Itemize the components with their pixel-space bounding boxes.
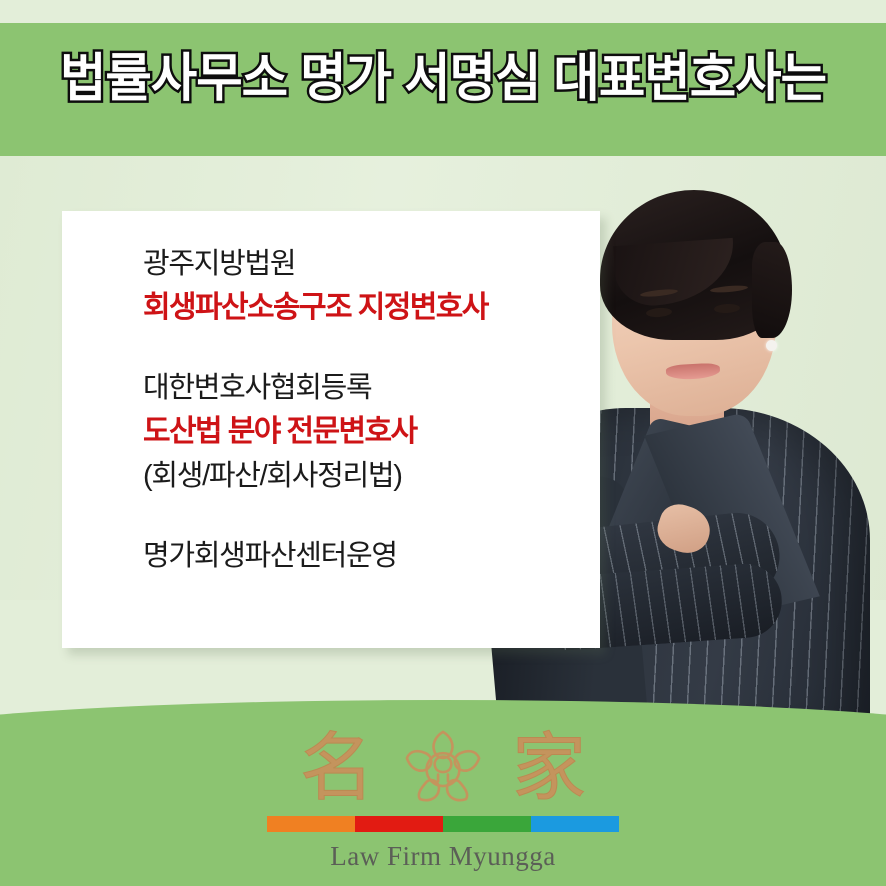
logo-subtitle: Law Firm Myungga: [243, 840, 643, 872]
flower-emblem-icon: [400, 727, 486, 809]
credentials-list: 광주지방법원 회생파산소송구조 지정변호사 대한변호사협회등록 도산법 분야 전…: [143, 242, 573, 578]
logo-glyph-row: 名 家: [243, 726, 643, 810]
logo-color-bar: [267, 816, 619, 832]
color-bar-segment-blue: [531, 816, 619, 832]
credential-line-specialist-attorney: 도산법 분야 전문변호사: [143, 410, 573, 454]
credential-line-specialty-detail: (회생/파산/회사정리법): [143, 454, 573, 498]
credential-line-appointed-attorney: 회생파산소송구조 지정변호사: [143, 286, 573, 330]
firm-logo: 名 家: [243, 726, 643, 872]
credential-line-bar-registration: 대한변호사협회등록: [143, 366, 573, 410]
logo-character-ga: 家: [512, 731, 586, 805]
color-bar-segment-orange: [267, 816, 355, 832]
page-title: 법률사무소 명가 서명심 대표변호사는: [13, 46, 872, 112]
poster-root: 법률사무소 명가 서명심 대표변호사는 광주지방법원 회생파산소송구조 지정변호…: [0, 0, 886, 886]
color-bar-segment-red: [355, 816, 443, 832]
logo-character-myung: 名: [300, 731, 374, 805]
credential-line-court: 광주지방법원: [143, 242, 573, 286]
credential-line-center: 명가회생파산센터운영: [143, 534, 573, 578]
portrait-earring: [766, 340, 777, 351]
color-bar-segment-green: [443, 816, 531, 832]
credentials-card: 광주지방법원 회생파산소송구조 지정변호사 대한변호사협회등록 도산법 분야 전…: [62, 211, 600, 648]
portrait-hair-side: [752, 242, 792, 338]
background-top-strip: [0, 0, 886, 23]
